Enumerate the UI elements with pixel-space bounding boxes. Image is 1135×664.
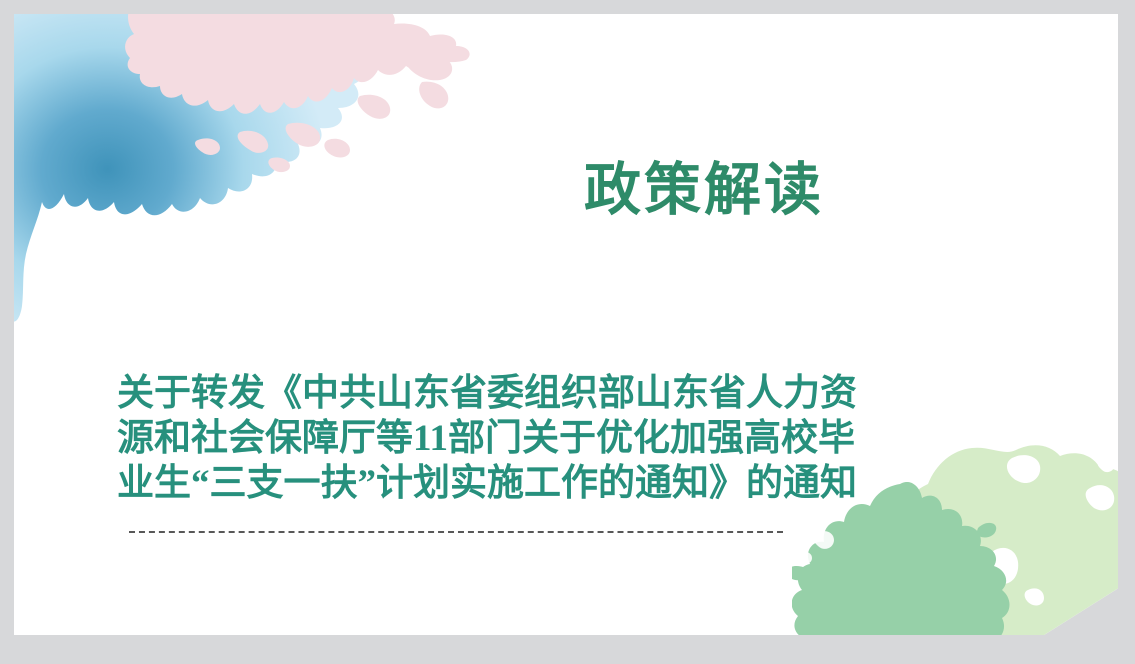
slide-body-text: 关于转发《中共山东省委组织部山东省人力资 源和社会保障厅等11部门关于优化加强高… xyxy=(117,371,803,506)
body-line-1: 关于转发《中共山东省委组织部山东省人力资 xyxy=(117,371,803,416)
slide-title: 政策解读 xyxy=(444,159,964,223)
slide-surface: 政策解读 关于转发《中共山东省委组织部山东省人力资 源和社会保障厅等11部门关于… xyxy=(14,14,1118,635)
body-line-3: 业生“三支一扶”计划实施工作的通知》的通知 xyxy=(117,461,803,506)
dashed-divider xyxy=(129,531,783,533)
watercolor-green-splash-light-icon xyxy=(894,444,1118,635)
watercolor-green-splash-dark-icon xyxy=(792,482,1042,635)
slide-canvas: 政策解读 关于转发《中共山东省委组织部山东省人力资 源和社会保障厅等11部门关于… xyxy=(14,14,1118,635)
body-line-2: 源和社会保障厅等11部门关于优化加强高校毕 xyxy=(117,416,803,461)
presentation-viewport: 政策解读 关于转发《中共山东省委组织部山东省人力资 源和社会保障厅等11部门关于… xyxy=(0,0,1135,664)
watercolor-blue-splash-icon xyxy=(14,14,428,334)
watercolor-pink-splash-icon xyxy=(122,14,482,210)
